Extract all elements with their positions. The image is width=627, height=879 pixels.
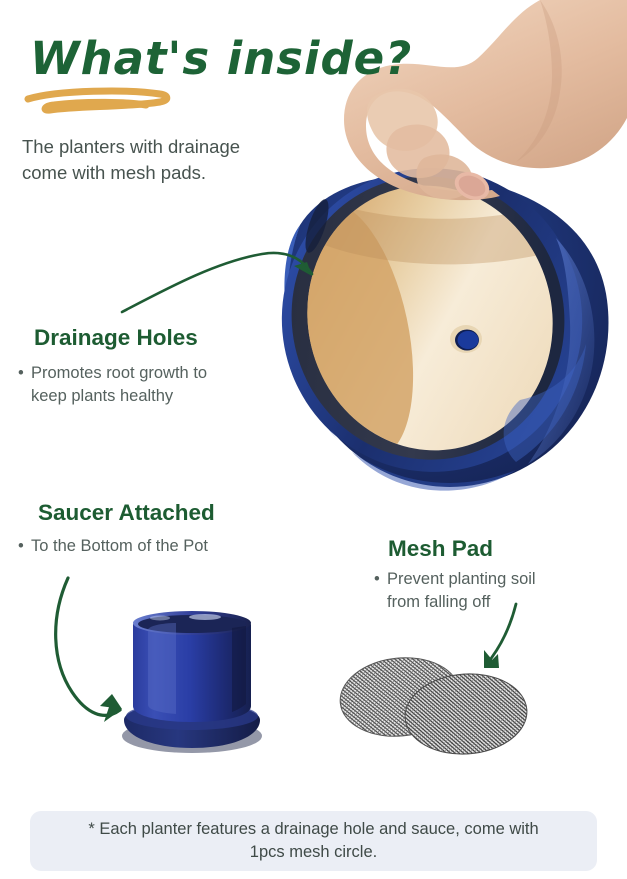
infographic-canvas: What's inside? The planters with drainag… xyxy=(0,0,627,879)
mesh-pads-photo xyxy=(0,0,627,879)
footer-note-text: * Each planter features a drainage hole … xyxy=(30,818,597,864)
footer-note-box: * Each planter features a drainage hole … xyxy=(30,811,597,871)
